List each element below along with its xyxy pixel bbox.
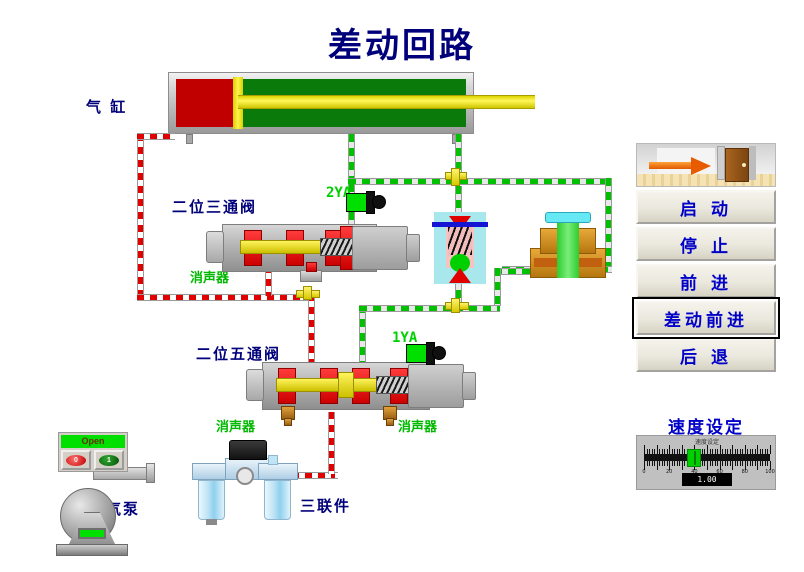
valve-25-spring — [376, 376, 410, 394]
valve-25-label: 二位五通阀 — [196, 343, 281, 364]
speed-slider-track[interactable] — [644, 454, 770, 461]
tee-lower-v — [451, 298, 460, 313]
pipe-green-throttle-down — [494, 268, 501, 306]
pipe-red-supply-up-to-valve25 — [328, 412, 335, 474]
throttle-valve-stem — [557, 220, 579, 278]
cylinder-rod — [238, 95, 535, 109]
pneumatic-circuit-screen: 差动回路 气 缸 二位三通阀 消声器 2YA — [0, 0, 804, 572]
tee-muffler-v — [303, 286, 312, 300]
cylinder-foot-left — [186, 134, 193, 144]
frl-filter-drain — [206, 519, 217, 525]
speed-value-display: 1.00 — [682, 473, 732, 486]
frl-lubricator-filler — [268, 455, 278, 465]
solenoid-2ya-knob — [372, 195, 386, 209]
valve-23-solenoid-tail — [406, 234, 420, 262]
backward-button[interactable]: 后 退 — [636, 338, 776, 372]
pump-base-plate — [56, 544, 128, 556]
speed-slider-handle[interactable] — [687, 449, 701, 467]
pipe-red-bottom-to-muffler-tee — [137, 294, 312, 301]
frl-lubricator-bowl — [264, 480, 291, 520]
pipe-green-valve23-supply — [348, 134, 355, 184]
valve-23-solenoid-body — [352, 226, 408, 270]
throttle-valve-handle — [545, 212, 591, 223]
pipe-red-tee-down-to-valve25 — [308, 294, 315, 362]
cylinder-red-chamber — [176, 79, 233, 127]
exit-door-icon[interactable] — [636, 143, 776, 187]
pump-run-indicator — [78, 528, 106, 539]
valve-23-label: 二位三通阀 — [172, 196, 257, 217]
forward-button[interactable]: 前 进 — [636, 264, 776, 298]
speed-slider-panel[interactable]: 速度设定 020406080100 1.00 — [636, 435, 776, 490]
solenoid-1ya-knob — [432, 346, 446, 360]
solenoid-2ya-indicator — [346, 193, 368, 212]
speed-ticks-upper — [644, 445, 770, 454]
start-button[interactable]: 启 动 — [636, 190, 776, 224]
frl-label: 三联件 — [300, 495, 351, 516]
pump-on-button[interactable]: 1 — [94, 450, 124, 470]
valve-25-end-cap — [246, 369, 264, 401]
valve-25-solenoid-body — [408, 364, 464, 408]
pump-off-led: 0 — [66, 455, 86, 466]
differential-forward-button[interactable]: 差动前进 — [636, 301, 776, 335]
valve-23-spring — [320, 238, 354, 256]
pipe-green-right-vertical — [605, 178, 612, 270]
tee-upper-v — [451, 168, 460, 186]
solenoid-1ya-indicator — [406, 344, 428, 363]
muffler-lower-right-label: 消声器 — [398, 416, 437, 435]
muffler-lower-left-tip — [284, 418, 292, 426]
pipe-green-top-horizontal — [348, 178, 612, 185]
pipe-red-left-vertical — [137, 134, 144, 294]
muffler-lower-right-tip — [386, 418, 394, 426]
muffler-lower-left-label: 消声器 — [216, 416, 255, 435]
check-valve-outlet-cone — [449, 268, 471, 283]
pipe-green-down-to-valve25 — [359, 305, 366, 363]
stop-button[interactable]: 停 止 — [636, 227, 776, 261]
pump-off-button[interactable]: 0 — [61, 450, 91, 470]
frl-pressure-gauge — [236, 467, 254, 485]
pump-on-led: 1 — [99, 455, 119, 466]
valve-23-end-cap — [206, 231, 224, 263]
pump-status-label: Open — [61, 435, 125, 448]
valve-25-spool-land — [338, 372, 354, 398]
frl-regulator-knob — [229, 440, 267, 460]
pipe-red-cyl-left-stub — [137, 133, 175, 140]
check-valve-spring — [448, 227, 472, 255]
valve-25-solenoid-tail — [462, 372, 476, 400]
muffler-upper-neck — [306, 262, 317, 272]
cylinder-label: 气 缸 — [86, 96, 127, 117]
frl-lubricator-head — [258, 463, 298, 480]
pump-outlet-flange — [146, 463, 155, 483]
frl-filter-bowl — [198, 480, 225, 520]
pipe-green-bottom-horizontal — [359, 305, 459, 312]
page-title: 差动回路 — [0, 18, 804, 67]
control-button-panel: 启 动 停 止 前 进 差动前进 后 退 — [636, 143, 776, 372]
